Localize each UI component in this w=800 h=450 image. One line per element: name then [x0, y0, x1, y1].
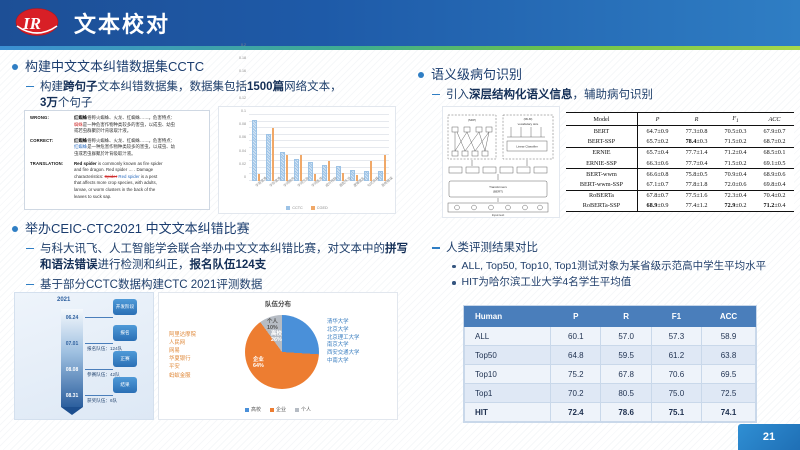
table-row: ERNIE65.7±0.477.7±1.471.2±0.468.5±0.1	[566, 147, 794, 158]
sub-bullet-dot-icon	[452, 265, 456, 269]
ex-t6: leaves to suck sap.	[74, 194, 111, 199]
company-item: 人民网	[169, 339, 196, 347]
cell-p: 67.1±0.7	[637, 179, 677, 190]
svg-text:Linear Classifier: Linear Classifier	[516, 145, 538, 149]
right-bullet-1-label: 语义级病句识别	[431, 66, 522, 84]
timeline-date: 07.01	[61, 341, 83, 347]
model-results-table: Model P R F1 ACC BERT64.7±0.977.3±0.870.…	[566, 112, 794, 212]
cell-f1: 70.6	[651, 365, 701, 384]
human-evaluation-table: Human P R F1 ACC ALL60.157.057.358.9Top5…	[464, 306, 756, 422]
pie-slice-label: 个人	[267, 319, 278, 325]
cell-p: 72.4	[551, 403, 601, 422]
example-body-wrong: 红蜘蛛俗称火蜘蛛、火龙、红蜘蛛……。危害特点： 蜘蛛是一种危害作物种类较多的害虫…	[74, 115, 175, 135]
example-label-correct: CORRECT:	[30, 138, 74, 158]
table-header-row: Model P R F1 ACC	[566, 113, 794, 126]
pie-slice-annotation: 个人10%	[267, 319, 278, 332]
cell-r: 77.7±1.4	[677, 147, 716, 158]
cell-p: 64.8	[551, 346, 601, 365]
cell-acc: 69.5	[702, 365, 756, 384]
bar-group	[364, 115, 373, 181]
ex-c2a: 红蜘蛛	[74, 144, 87, 149]
pie-slice-value: 26%	[271, 337, 282, 343]
bar-CGED	[272, 128, 275, 181]
left-bullet-1: 构建中文文本纠错数据集CCTC	[12, 58, 410, 76]
ex-w2b: 是一种危害作物种类较多的害虫，以成虫、幼虫	[83, 122, 175, 127]
left-content-column: 构建中文文本纠错数据集CCTC 构建跨句子文本纠错数据集，数据集包括1500篇网…	[12, 58, 410, 112]
cell-r: 78.6	[601, 403, 651, 422]
bar-CCTC	[252, 120, 257, 181]
cell-acc: 58.9	[702, 327, 756, 346]
error-type-distribution-bar-chart: 00.020.040.060.080.10.120.140.160.180.2 …	[218, 106, 396, 214]
ex-w1a: 红蜘蛛	[74, 115, 87, 120]
col-model: Model	[566, 113, 637, 126]
dash-icon	[26, 284, 34, 286]
cell-r: 78.4±0.3	[677, 137, 716, 148]
right-bullet-2-sub-2: HIT为哈尔滨工业大学4名学生平均值	[452, 275, 794, 290]
table-row: BERT-wwm-SSP67.1±0.777.8±1.872.0±0.669.8…	[566, 179, 794, 190]
timeline-date: 06.24	[61, 315, 83, 321]
frag-a: 构建	[40, 81, 63, 93]
cell-p: 67.8±0.7	[637, 190, 677, 201]
timeline-date: 08.08	[61, 367, 83, 373]
left-bullet-1-label: 构建中文文本纠错数据集CCTC	[25, 58, 204, 76]
page-number-badge: 21	[738, 424, 800, 450]
y-axis-tick: 0.06	[239, 135, 246, 139]
cell-name: HIT	[465, 403, 551, 422]
ex-t5: larvae, or worm clusters in the back of …	[74, 187, 155, 192]
cell-name: ALL	[465, 327, 551, 346]
pie-legend-item: 高校	[245, 406, 261, 413]
timeline-connector	[85, 369, 113, 370]
timeline-connector	[85, 395, 113, 396]
slide-header: IR 文本校对	[0, 0, 800, 46]
pie-slice-value: 10%	[267, 325, 278, 331]
timeline-node: 正赛	[113, 351, 137, 367]
legend-swatch	[295, 408, 299, 412]
table-row: BERT64.7±0.977.3±0.870.5±0.367.9±0.7	[566, 126, 794, 137]
cell-f1: 75.1	[651, 403, 701, 422]
bar-group	[308, 115, 317, 181]
table-row: BERT-SSP65.7±0.278.4±0.371.5±0.268.7±0.2	[566, 137, 794, 148]
bar-group	[378, 115, 387, 181]
bar-group	[252, 115, 261, 181]
cell-acc: 71.2±0.4	[755, 201, 794, 212]
svg-text:vocabulary size: vocabulary size	[518, 122, 539, 126]
right-bullet-1-sub-1-label: 引入深层结构化语义信息，辅助病句识别	[446, 87, 653, 104]
legend-label: CCTC	[292, 206, 303, 210]
company-list: 阿里达摩院人民网网易华夏银行平安蚂蚁金服	[169, 331, 196, 380]
right-bullet-2-label: 人类评测结果对比	[446, 240, 538, 257]
col-f1: F1	[716, 113, 755, 126]
cell-r: 67.8	[601, 365, 651, 384]
company-item: 蚂蚁金服	[169, 372, 196, 380]
ex-t3a: characteristics:	[74, 174, 105, 179]
cell-f1: 72.3±0.4	[716, 190, 755, 201]
ex-c1b: 俗称火蜘蛛、火龙、红蜘蛛……。危害特点：	[87, 138, 175, 143]
cell-f1: 70.5±0.3	[716, 126, 755, 137]
model-results-table-body: BERT64.7±0.977.3±0.870.5±0.367.9±0.7BERT…	[566, 126, 794, 212]
timeline-node: 结果	[113, 377, 137, 393]
table-row: ERNIE-SSP66.3±0.677.7±0.471.5±0.269.1±0.…	[566, 158, 794, 169]
university-list: 清华大学北京大学北京理工大学南京大学西安交通大学中南大学	[327, 319, 359, 366]
cell-p: 60.1	[551, 327, 601, 346]
frag-f: 3万	[40, 97, 58, 109]
y-axis-tick: 0.12	[239, 96, 246, 100]
cell-p: 65.7±0.4	[637, 147, 677, 158]
cell-f1: 61.2	[651, 346, 701, 365]
ex-c2b: 是一种危害作物种类较多的害虫，以成虫、幼	[87, 144, 175, 149]
frag-c: 进行检测和纠正，	[98, 259, 190, 271]
pie-chart-legend: 高校企业个人	[159, 406, 397, 413]
cell-p: 70.2	[551, 384, 601, 403]
bar-group	[322, 115, 331, 181]
table-row: HIT72.478.675.174.1	[465, 403, 756, 422]
cell-f1: 71.2±0.4	[716, 147, 755, 158]
cell-r: 75.8±0.5	[677, 169, 716, 180]
y-axis-tick: 0.18	[239, 56, 246, 60]
team-distribution-pie-chart: 队伍分布 高校26%企业64%个人10% 清华大学北京大学北京理工大学南京大学西…	[158, 292, 398, 420]
pie-slice-annotation: 高校26%	[271, 331, 282, 344]
legend-label: CGED	[317, 206, 328, 210]
bar-group	[336, 115, 345, 181]
example-label-translation: TRANSLATION:	[30, 161, 74, 201]
frag-a: 与科大讯飞、人工智能学会联合举办中文文本纠错比赛，对文本中的	[40, 243, 385, 255]
cell-acc: 74.1	[702, 403, 756, 422]
timeline-year-label: 2021	[57, 297, 70, 303]
ex-t3b: Spider	[105, 174, 118, 179]
cell-acc: 68.5±0.1	[755, 147, 794, 158]
bar-chart-plot-area: 00.020.040.060.080.10.120.140.160.180.2	[249, 115, 389, 181]
table-row: ALL60.157.057.358.9	[465, 327, 756, 346]
legend-item: CGED	[311, 206, 328, 210]
slide: IR 文本校对 构建中文文本纠错数据集CCTC 构建跨句子文本纠错数据集，数据集…	[0, 0, 800, 450]
bullet-dot-icon	[12, 64, 18, 70]
right-bullet-2-sub-1-label: ALL, Top50, Top10, Top1测试对象为某省级示范高中学生平均水…	[462, 259, 767, 274]
cell-r: 77.3±0.8	[677, 126, 716, 137]
y-axis-tick: 0.1	[241, 109, 246, 113]
legend-label: 企业	[276, 407, 286, 413]
right-content-column: 语义级病句识别 引入深层结构化语义信息，辅助病句识别	[418, 66, 794, 103]
cell-model: RoBERTa	[566, 190, 637, 201]
dash-icon	[432, 94, 440, 96]
cell-name: Top50	[465, 346, 551, 365]
company-item: 网易	[169, 347, 196, 355]
cell-acc: 63.8	[702, 346, 756, 365]
cell-p: 64.7±0.9	[637, 126, 677, 137]
col-r: R	[677, 113, 716, 126]
bar-group	[294, 115, 303, 181]
ssp-bert-architecture-figure: (SDP) (MLM) vocabulary size Linear Class…	[442, 106, 560, 218]
svg-text:(BERT): (BERT)	[493, 190, 503, 194]
y-axis-tick: 0.04	[239, 149, 246, 153]
cell-f1: 75.0	[651, 384, 701, 403]
frag-a: 引入	[446, 89, 469, 101]
sub-bullet-dot-icon	[452, 281, 456, 285]
human-col-f1: F1	[651, 307, 701, 327]
timeline-node: 报名	[113, 325, 137, 341]
pie-chart-circle: 高校26%企业64%个人10%	[245, 315, 319, 389]
cell-r: 77.8±1.8	[677, 179, 716, 190]
right-content-column-2: 人类评测结果对比 ALL, Top50, Top10, Top1测试对象为某省级…	[432, 237, 794, 290]
col-acc: ACC	[755, 113, 794, 126]
human-table-header-row: Human P R F1 ACC	[465, 307, 756, 327]
cell-p: 75.2	[551, 365, 601, 384]
ex-t3c: Red spider	[117, 174, 139, 179]
example-row-translation: TRANSLATION: Red spider is commonly know…	[30, 161, 204, 201]
frag-d: 1500篇	[247, 81, 284, 93]
model-architecture-diagram: (SDP) (MLM) vocabulary size Linear Class…	[443, 107, 559, 217]
table-row: RoBERTa67.8±0.777.5±1.672.3±0.470.4±0.2	[566, 190, 794, 201]
ex-w3: 或若虫群聚於叶背吸取汁液。	[74, 128, 131, 133]
cell-model: RoBERTa-SSP	[566, 201, 637, 212]
human-col-acc: ACC	[702, 307, 756, 327]
f1-subscript: 1	[736, 118, 739, 124]
frag-c: 文本纠错数据集，数据集包括	[98, 81, 248, 93]
university-item: 西安交通大学	[327, 350, 359, 358]
bar-CCTC	[266, 134, 271, 181]
cell-p: 66.6±0.8	[637, 169, 677, 180]
pie-slice-annotation: 企业64%	[253, 357, 264, 370]
frag-c: ，辅助病句识别	[573, 89, 654, 101]
cell-f1: 70.9±0.4	[716, 169, 755, 180]
svg-text:Transformers: Transformers	[489, 185, 507, 189]
cell-r: 77.7±0.4	[677, 158, 716, 169]
bullet-dot-icon	[12, 226, 18, 232]
y-axis-tick: 0.16	[239, 69, 246, 73]
company-item: 阿里达摩院	[169, 331, 196, 339]
company-item: 华夏银行	[169, 355, 196, 363]
left-bullet-2: 举办CEIC-CTC2021 中文文本纠错比赛	[12, 220, 412, 238]
cell-name: Top1	[465, 384, 551, 403]
ex-t1a: Red spider	[74, 161, 97, 166]
cell-r: 59.5	[601, 346, 651, 365]
timeline-connector	[85, 317, 113, 318]
timeline-caption: 获奖队伍：6队	[87, 398, 117, 404]
right-bullet-1: 语义级病句识别	[418, 66, 794, 84]
ex-t3d: is a pest	[140, 174, 158, 179]
left-bullet-2-sub-1-label: 与科大讯飞、人工智能学会联合举办中文文本纠错比赛，对文本中的拼写和语法错误进行检…	[40, 241, 412, 274]
legend-swatch	[286, 206, 290, 210]
cell-p: 66.3±0.6	[637, 158, 677, 169]
ex-w2a: 蜘蛛	[74, 122, 83, 127]
ex-t4: that affects more crop species, with adu…	[74, 180, 157, 185]
timeline-connector	[85, 343, 113, 344]
table-row: Top5064.859.561.263.8	[465, 346, 756, 365]
example-label-wrong: WRONG:	[30, 115, 74, 135]
harbin-institute-logo-icon: IR	[14, 6, 60, 40]
left-bullet-2-sub-1: 与科大讯飞、人工智能学会联合举办中文文本纠错比赛，对文本中的拼写和语法错误进行检…	[26, 241, 412, 274]
model-results-table-head: Model P R F1 ACC	[566, 113, 794, 126]
human-col-name: Human	[465, 307, 551, 327]
dash-icon	[26, 86, 34, 88]
university-item: 北京大学	[327, 327, 359, 335]
legend-label: 高校	[251, 407, 261, 413]
university-item: 中南大学	[327, 358, 359, 366]
frag-g: 个句子	[58, 97, 93, 109]
cell-acc: 67.9±0.7	[755, 126, 794, 137]
pie-slice-label: 企业	[253, 357, 264, 363]
dash-icon	[432, 247, 440, 249]
cell-model: BERT-wwm	[566, 169, 637, 180]
cell-f1: 72.0±0.6	[716, 179, 755, 190]
example-row-wrong: WRONG: 红蜘蛛俗称火蜘蛛、火龙、红蜘蛛……。危害特点： 蜘蛛是一种危害作物…	[30, 115, 204, 135]
right-bullet-2: 人类评测结果对比	[432, 240, 794, 257]
university-item: 清华大学	[327, 319, 359, 327]
cell-acc: 72.5	[702, 384, 756, 403]
cell-f1: 57.3	[651, 327, 701, 346]
timeline-node: 开发阶段	[113, 299, 137, 315]
frag-d: 报名队伍124支	[190, 259, 267, 271]
y-axis-tick: 0	[244, 175, 246, 179]
dash-icon	[26, 248, 34, 250]
pie-slice-value: 64%	[253, 363, 264, 369]
legend-item: CCTC	[286, 206, 303, 210]
col-p: P	[637, 113, 677, 126]
competition-timeline-figure: 2021 06.24开发阶段07.01报名报名队伍：124队08.08正赛参赛队…	[14, 292, 154, 420]
cell-model: ERNIE	[566, 147, 637, 158]
example-body-translation: Red spider is commonly known as fire spi…	[74, 161, 163, 201]
y-axis-tick: 0.14	[239, 83, 246, 87]
ex-c1a: 红蜘蛛	[74, 138, 87, 143]
cell-acc: 70.4±0.2	[755, 190, 794, 201]
table-row: BERT-wwm66.6±0.875.8±0.570.9±0.468.9±0.6	[566, 169, 794, 180]
human-col-r: R	[601, 307, 651, 327]
example-correction-figure: WRONG: 红蜘蛛俗称火蜘蛛、火龙、红蜘蛛……。危害特点： 蜘蛛是一种危害作物…	[24, 110, 210, 210]
cell-model: BERT-SSP	[566, 137, 637, 148]
table-row: RoBERTa-SSP68.9±0.977.4±1.272.9±0.271.2±…	[566, 201, 794, 212]
cell-r: 57.0	[601, 327, 651, 346]
company-item: 平安	[169, 363, 196, 371]
bar-group	[266, 115, 275, 181]
ex-c3: 虫或若虫群聚於叶背吸取汁液。	[74, 151, 135, 156]
bar-group	[280, 115, 289, 181]
bar-group	[350, 115, 359, 181]
right-bullet-2-sub-1: ALL, Top50, Top10, Top1测试对象为某省级示范高中学生平均水…	[452, 259, 794, 274]
page-title: 文本校对	[74, 7, 170, 39]
ex-t2: and fire dragon. Red spider … . Damage	[74, 167, 153, 172]
cell-f1: 72.9±0.2	[716, 201, 755, 212]
cell-r: 77.4±1.2	[677, 201, 716, 212]
cell-p: 68.9±0.9	[637, 201, 677, 212]
frag-b: 跨句子	[63, 81, 98, 93]
right-bullet-1-sub-1: 引入深层结构化语义信息，辅助病句识别	[432, 87, 794, 104]
cell-model: ERNIE-SSP	[566, 158, 637, 169]
cell-model: BERT-wwm-SSP	[566, 179, 637, 190]
table-row: Top170.280.575.072.5	[465, 384, 756, 403]
timeline-date: 08.31	[61, 393, 83, 399]
header-accent-stripe	[0, 46, 800, 50]
table-row: Top1075.267.870.669.5	[465, 365, 756, 384]
left-bullet-2-label: 举办CEIC-CTC2021 中文文本纠错比赛	[25, 220, 250, 238]
human-col-p: P	[551, 307, 601, 327]
left-content-column-2: 举办CEIC-CTC2021 中文文本纠错比赛 与科大讯飞、人工智能学会联合举办…	[12, 220, 412, 294]
pie-chart-title: 队伍分布	[159, 298, 397, 308]
bullet-dot-icon	[418, 72, 424, 78]
y-axis-tick: 0.08	[239, 122, 246, 126]
svg-text:(SDP): (SDP)	[468, 118, 476, 122]
pie-legend-item: 个人	[295, 406, 311, 413]
y-axis-tick: 0.2	[241, 43, 246, 47]
example-body-correct: 红蜘蛛俗称火蜘蛛、火龙、红蜘蛛……。危害特点： 红蜘蛛是一种危害作物种类较多的害…	[74, 138, 175, 158]
human-table-head: Human P R F1 ACC	[465, 307, 756, 327]
cell-name: Top10	[465, 365, 551, 384]
cell-acc: 69.1±0.5	[755, 158, 794, 169]
svg-text:(MLM): (MLM)	[524, 117, 533, 121]
cell-r: 80.5	[601, 384, 651, 403]
legend-swatch	[270, 408, 274, 412]
cell-r: 77.5±1.6	[677, 190, 716, 201]
legend-swatch	[311, 206, 315, 210]
ex-w1b: 俗称火蜘蛛、火龙、红蜘蛛……。危害特点：	[87, 115, 175, 120]
cell-f1: 71.5±0.2	[716, 158, 755, 169]
frag-e: 网络文本，	[284, 81, 342, 93]
example-row-correct: CORRECT: 红蜘蛛俗称火蜘蛛、火龙、红蜘蛛……。危害特点： 红蜘蛛是一种危…	[30, 138, 204, 158]
ex-t1b: is commonly known as fire spider	[97, 161, 163, 166]
cell-acc: 69.8±0.4	[755, 179, 794, 190]
cell-acc: 68.7±0.2	[755, 137, 794, 148]
cell-p: 65.7±0.2	[637, 137, 677, 148]
bar-chart-legend: CCTCCGED	[219, 206, 395, 210]
cell-model: BERT	[566, 126, 637, 137]
cell-f1: 71.5±0.2	[716, 137, 755, 148]
legend-label: 个人	[301, 407, 311, 413]
right-bullet-2-sub-2-label: HIT为哈尔滨工业大学4名学生平均值	[462, 275, 632, 290]
svg-text:Input text: Input text	[492, 213, 505, 217]
cell-acc: 68.9±0.6	[755, 169, 794, 180]
y-axis-tick: 0.02	[239, 162, 246, 166]
frag-b: 深层结构化语义信息	[469, 89, 573, 101]
legend-swatch	[245, 408, 249, 412]
pie-legend-item: 企业	[270, 406, 286, 413]
human-table-body: ALL60.157.057.358.9Top5064.859.561.263.8…	[465, 327, 756, 422]
